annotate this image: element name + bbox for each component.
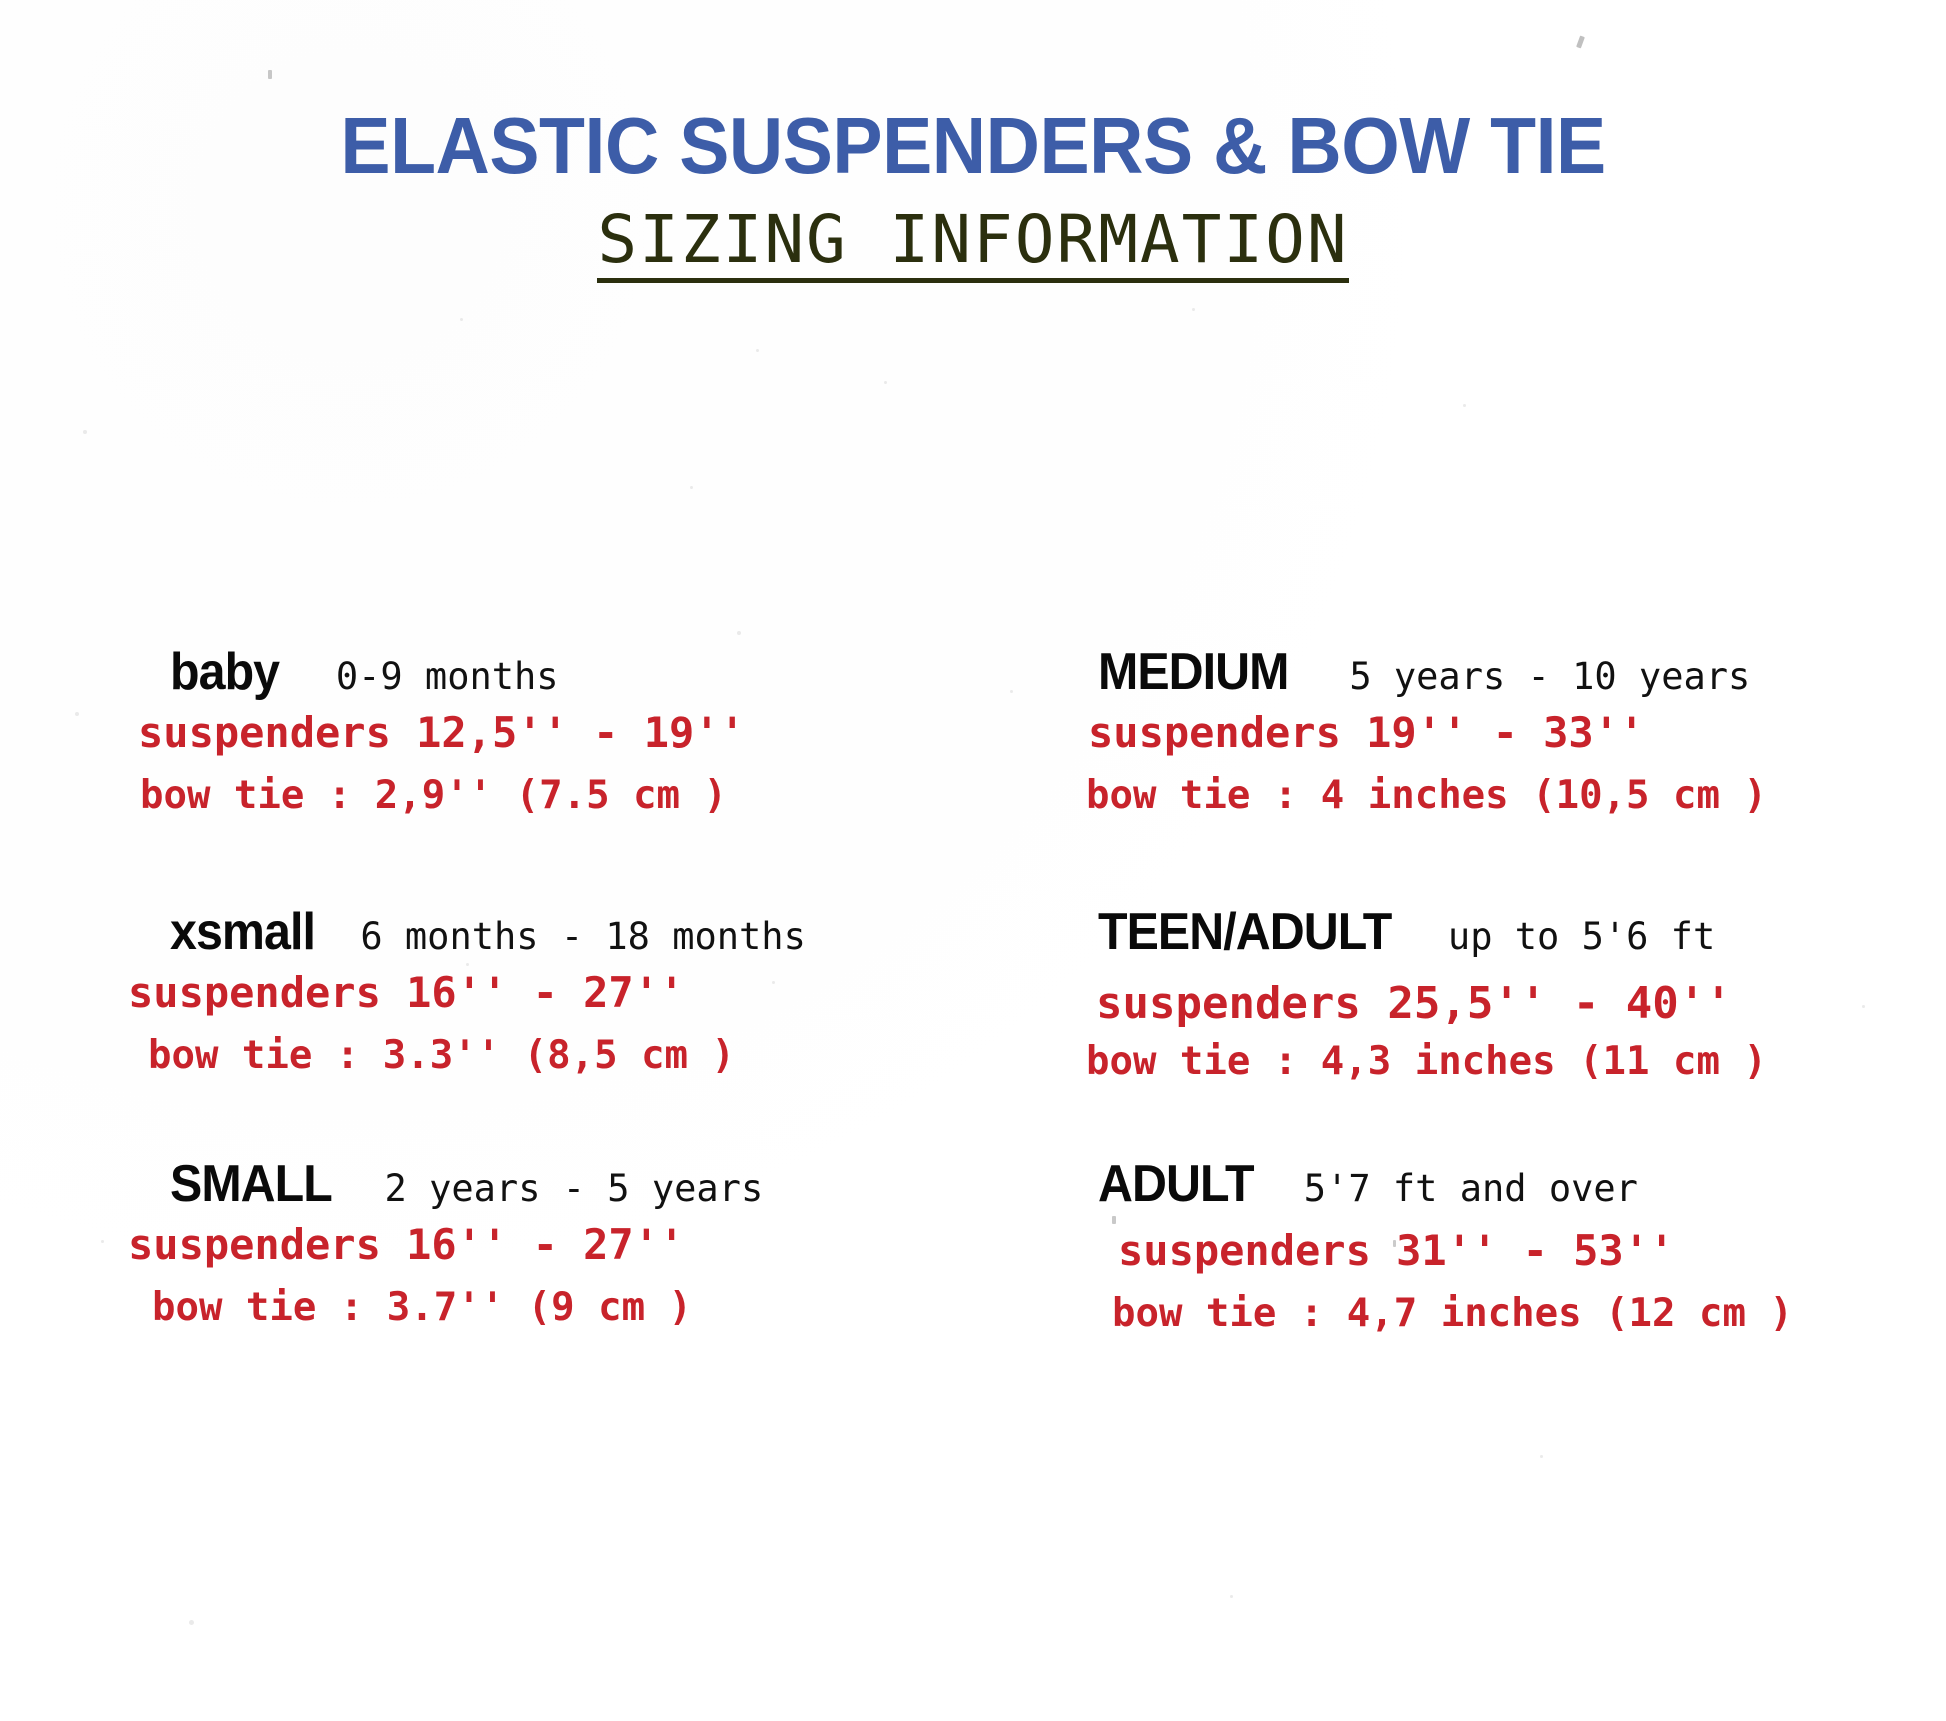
bowtie-measure-xsmall: bow tie : 3.3'' (8,5 cm ) (148, 1036, 806, 1075)
size-block-xsmall: xsmall 6 months - 18 months suspenders 1… (170, 906, 806, 1075)
size-chart: baby 0-9 months suspenders 12,5'' - 19''… (0, 646, 1946, 1406)
size-header: xsmall 6 months - 18 months (170, 906, 806, 958)
size-block-small: SMALL 2 years - 5 years suspenders 16'' … (170, 1158, 763, 1327)
size-age-adult: 5'7 ft and over (1304, 1167, 1638, 1210)
size-header: ADULT 5'7 ft and over (1098, 1158, 1793, 1210)
bowtie-measure-baby: bow tie : 2,9'' (7.5 cm ) (140, 776, 745, 815)
size-name-xsmall: xsmall (170, 906, 315, 958)
suspenders-measure-adult: suspenders 31'' - 53'' (1118, 1230, 1793, 1272)
size-name-teen-adult: TEEN/ADULT (1098, 906, 1391, 958)
size-name-adult: ADULT (1098, 1158, 1254, 1210)
size-header: MEDIUM 5 years - 10 years (1098, 646, 1767, 698)
subtitle-container: SIZING INFORMATION (0, 205, 1946, 283)
bowtie-measure-medium: bow tie : 4 inches (10,5 cm ) (1086, 776, 1767, 815)
page-title: ELASTIC SUSPENDERS & BOW TIE (340, 106, 1605, 186)
suspenders-measure-medium: suspenders 19'' - 33'' (1088, 712, 1767, 754)
size-age-baby: 0-9 months (336, 655, 559, 698)
suspenders-measure-xsmall: suspenders 16'' - 27'' (128, 972, 806, 1014)
size-block-baby: baby 0-9 months suspenders 12,5'' - 19''… (170, 646, 745, 815)
suspenders-measure-baby: suspenders 12,5'' - 19'' (138, 712, 745, 754)
suspenders-measure-small: suspenders 16'' - 27'' (128, 1224, 763, 1266)
size-name-small: SMALL (170, 1158, 332, 1210)
size-age-small: 2 years - 5 years (385, 1167, 764, 1210)
title-container: ELASTIC SUSPENDERS & BOW TIE (0, 106, 1946, 186)
size-name-medium: MEDIUM (1098, 646, 1289, 698)
page-subtitle: SIZING INFORMATION (597, 205, 1348, 283)
size-header: TEEN/ADULT up to 5'6 ft (1098, 906, 1767, 958)
suspenders-measure-teen-adult: suspenders 25,5'' - 40'' (1096, 982, 1767, 1026)
size-age-medium: 5 years - 10 years (1349, 655, 1750, 698)
size-header: baby 0-9 months (170, 646, 745, 698)
size-name-baby: baby (170, 646, 279, 698)
size-block-teen-adult: TEEN/ADULT up to 5'6 ft suspenders 25,5'… (1098, 906, 1767, 1081)
size-age-xsmall: 6 months - 18 months (360, 915, 806, 958)
size-age-teen-adult: up to 5'6 ft (1448, 915, 1715, 958)
bowtie-measure-adult: bow tie : 4,7 inches (12 cm ) (1112, 1294, 1793, 1333)
bowtie-measure-teen-adult: bow tie : 4,3 inches (11 cm ) (1086, 1042, 1767, 1081)
bowtie-measure-small: bow tie : 3.7'' (9 cm ) (152, 1288, 763, 1327)
size-header: SMALL 2 years - 5 years (170, 1158, 763, 1210)
size-block-adult: ADULT 5'7 ft and over suspenders 31'' - … (1098, 1158, 1793, 1333)
size-block-medium: MEDIUM 5 years - 10 years suspenders 19'… (1098, 646, 1767, 815)
